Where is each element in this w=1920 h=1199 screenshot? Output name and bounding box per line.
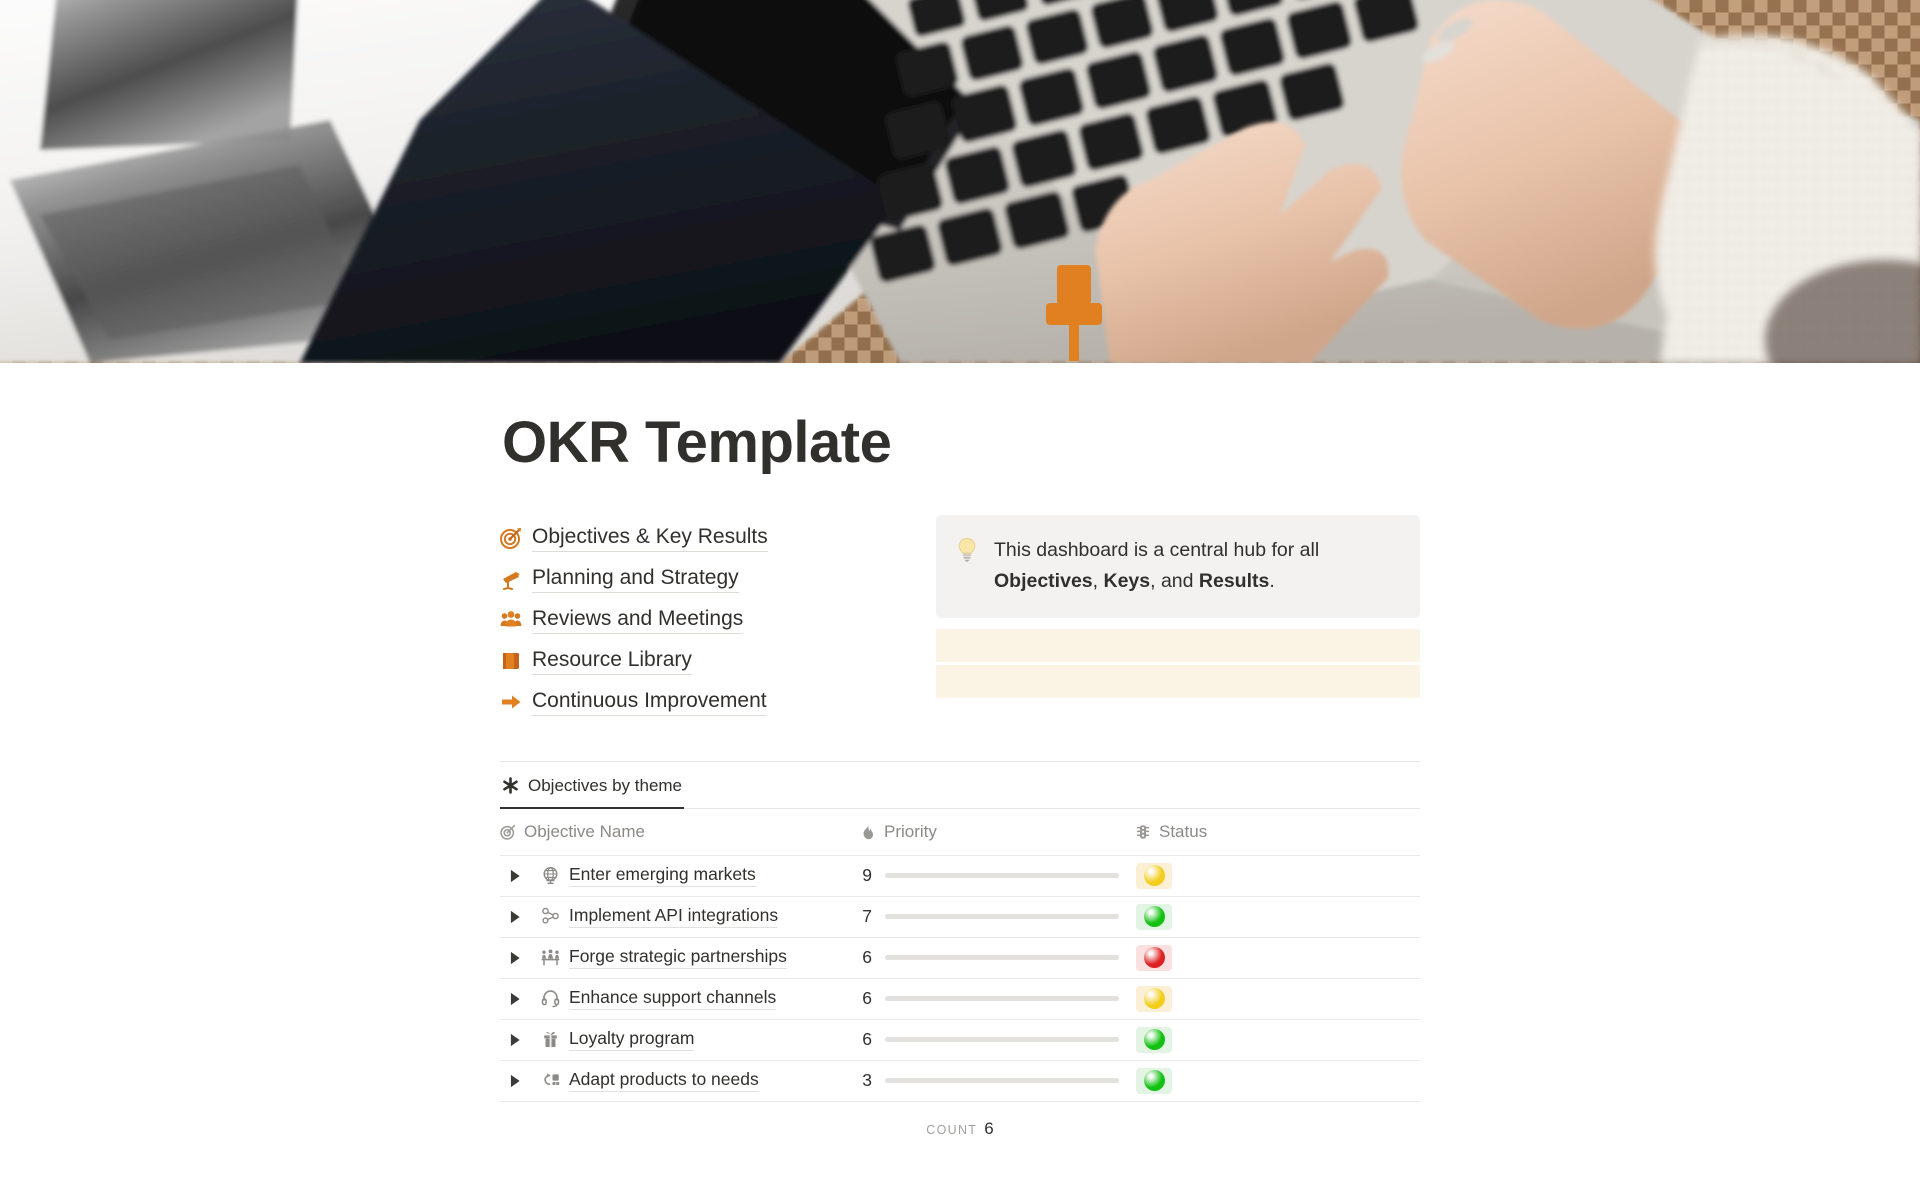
table-row[interactable]: Loyalty program 6	[500, 1019, 1420, 1060]
objective-name-label[interactable]: Enter emerging markets	[569, 864, 756, 887]
status-badge	[1136, 945, 1172, 971]
nav-link-label: Reviews and Meetings	[532, 606, 743, 634]
cell-objective-name[interactable]: Enhance support channels	[500, 978, 860, 1019]
nav-link-planning-and-strategy[interactable]: Planning and Strategy	[500, 559, 928, 600]
status-badge	[1136, 1068, 1172, 1094]
expand-row-toggle[interactable]	[508, 910, 522, 924]
cell-priority[interactable]: 6	[860, 978, 1135, 1019]
arrow-right-icon	[500, 691, 522, 713]
callout-text-after: .	[1269, 570, 1274, 592]
cell-status[interactable]	[1135, 896, 1420, 937]
cell-priority[interactable]: 7	[860, 896, 1135, 937]
swap-icon	[541, 1071, 560, 1090]
expand-row-toggle[interactable]	[508, 869, 522, 883]
priority-value: 7	[860, 906, 872, 927]
callout-bold-results: Results	[1199, 570, 1269, 592]
callout-sep-2: , and	[1150, 570, 1199, 592]
globe-icon	[541, 866, 560, 885]
cell-priority[interactable]: 9	[860, 855, 1135, 896]
table-footer: Count 6	[500, 1102, 1420, 1139]
meeting-icon	[541, 948, 560, 967]
column-header-priority[interactable]: Priority	[860, 809, 1135, 856]
cell-objective-name[interactable]: Loyalty program	[500, 1019, 860, 1060]
nav-link-resource-library[interactable]: Resource Library	[500, 641, 928, 682]
table-row[interactable]: Forge strategic partnerships 6	[500, 937, 1420, 978]
telescope-icon	[500, 568, 522, 590]
column-header-label: Priority	[884, 822, 937, 842]
callout-text: This dashboard is a central hub for all …	[994, 535, 1374, 597]
callout-sep-1: ,	[1093, 570, 1104, 592]
cell-status[interactable]	[1135, 1060, 1420, 1101]
expand-row-toggle[interactable]	[508, 1074, 522, 1088]
cell-priority[interactable]: 6	[860, 937, 1135, 978]
nav-link-label: Resource Library	[532, 647, 692, 675]
asterisk-icon	[502, 777, 519, 794]
nav-link-reviews-and-meetings[interactable]: Reviews and Meetings	[500, 600, 928, 641]
cell-objective-name[interactable]: Enter emerging markets	[500, 855, 860, 896]
page-title: OKR Template	[502, 363, 1420, 475]
database-tab-bar: Objectives by theme	[500, 762, 1420, 809]
status-light	[1144, 1029, 1165, 1050]
objective-name-label[interactable]: Forge strategic partnerships	[569, 946, 787, 969]
objectives-table: Objective Name Priority	[500, 809, 1420, 1102]
trafficlight-icon	[1135, 824, 1151, 840]
status-light	[1144, 1070, 1165, 1091]
highlight-block-1[interactable]	[936, 629, 1420, 662]
lightbulb-icon	[956, 537, 978, 563]
nav-link-label: Objectives & Key Results	[532, 524, 768, 552]
nav-link-list: Objectives & Key Results Planning and St…	[500, 515, 928, 723]
priority-value: 6	[860, 947, 872, 968]
cover-image	[0, 0, 1920, 363]
objectives-database: Objectives by theme	[500, 762, 1420, 1139]
status-light	[1144, 988, 1165, 1009]
cell-objective-name[interactable]: Implement API integrations	[500, 896, 860, 937]
status-badge	[1136, 1027, 1172, 1053]
priority-bar	[885, 996, 1119, 1001]
priority-bar	[885, 955, 1119, 960]
priority-bar	[885, 1037, 1119, 1042]
cell-objective-name[interactable]: Adapt products to needs	[500, 1060, 860, 1101]
status-light	[1144, 947, 1165, 968]
objective-name-label[interactable]: Adapt products to needs	[569, 1069, 759, 1092]
status-badge	[1136, 863, 1172, 889]
priority-bar	[885, 873, 1119, 878]
table-row[interactable]: Implement API integrations 7	[500, 896, 1420, 937]
expand-row-toggle[interactable]	[508, 1033, 522, 1047]
pushpin-icon[interactable]	[1043, 265, 1105, 361]
expand-row-toggle[interactable]	[508, 951, 522, 965]
objective-name-label[interactable]: Loyalty program	[569, 1028, 694, 1051]
tab-objectives-by-theme[interactable]: Objectives by theme	[500, 762, 684, 809]
nav-link-objectives-key-results[interactable]: Objectives & Key Results	[500, 518, 928, 559]
target-icon	[500, 824, 516, 840]
column-header-label: Objective Name	[524, 822, 645, 842]
status-light	[1144, 865, 1165, 886]
table-row[interactable]: Enhance support channels 6	[500, 978, 1420, 1019]
cell-status[interactable]	[1135, 937, 1420, 978]
count-label: Count	[926, 1123, 977, 1137]
people-icon	[500, 609, 522, 631]
expand-row-toggle[interactable]	[508, 992, 522, 1006]
table-row[interactable]: Adapt products to needs 3	[500, 1060, 1420, 1101]
status-badge	[1136, 904, 1172, 930]
flame-icon	[860, 824, 876, 840]
priority-bar	[885, 914, 1119, 919]
tab-label: Objectives by theme	[528, 776, 682, 796]
cell-objective-name[interactable]: Forge strategic partnerships	[500, 937, 860, 978]
cell-status[interactable]	[1135, 1019, 1420, 1060]
cell-priority[interactable]: 6	[860, 1019, 1135, 1060]
nav-link-label: Continuous Improvement	[532, 688, 767, 716]
priority-value: 6	[860, 1029, 872, 1050]
gift-icon	[541, 1030, 560, 1049]
status-light	[1144, 906, 1165, 927]
cell-priority[interactable]: 3	[860, 1060, 1135, 1101]
nav-link-continuous-improvement[interactable]: Continuous Improvement	[500, 682, 928, 723]
books-icon	[500, 650, 522, 672]
table-row[interactable]: Enter emerging markets 9	[500, 855, 1420, 896]
priority-bar	[885, 1078, 1119, 1083]
priority-value: 3	[860, 1070, 872, 1091]
target-icon	[500, 527, 522, 549]
nav-link-label: Planning and Strategy	[532, 565, 739, 593]
callout-box: This dashboard is a central hub for all …	[936, 515, 1420, 619]
status-badge	[1136, 986, 1172, 1012]
cell-status[interactable]	[1135, 978, 1420, 1019]
column-header-status[interactable]: Status	[1135, 809, 1420, 856]
objective-name-label[interactable]: Enhance support channels	[569, 987, 776, 1010]
table-header-row: Objective Name Priority	[500, 809, 1420, 856]
callout-bold-keys: Keys	[1103, 570, 1150, 592]
cell-status[interactable]	[1135, 855, 1420, 896]
highlight-block-2[interactable]	[936, 665, 1420, 698]
priority-value: 9	[860, 865, 872, 886]
network-icon	[541, 907, 560, 926]
priority-value: 6	[860, 988, 872, 1009]
callout-text-before: This dashboard is a central hub for all	[994, 539, 1319, 561]
column-header-objective-name[interactable]: Objective Name	[500, 809, 860, 856]
callout-bold-objectives: Objectives	[994, 570, 1093, 592]
count-value: 6	[984, 1119, 993, 1139]
headset-icon	[541, 989, 560, 1008]
column-header-label: Status	[1159, 822, 1207, 842]
objective-name-label[interactable]: Implement API integrations	[569, 905, 778, 928]
intro-section: Objectives & Key Results Planning and St…	[500, 515, 1420, 723]
